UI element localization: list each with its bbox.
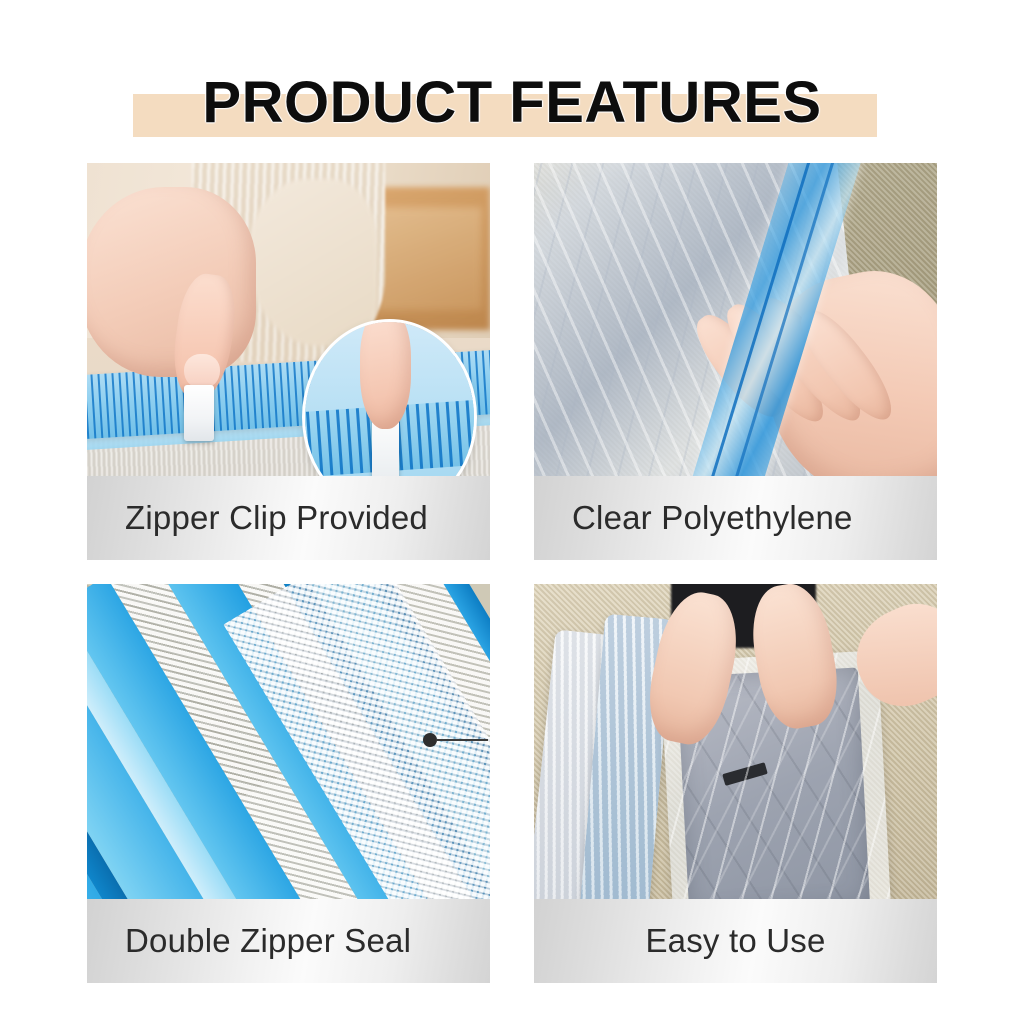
feature-caption-text: Double Zipper Seal bbox=[125, 922, 411, 960]
feature-caption-bar: Double Zipper Seal bbox=[87, 899, 490, 983]
feature-card-double-zipper-seal[interactable]: Double Zipper Seal bbox=[87, 584, 490, 983]
header: PRODUCT FEATURES bbox=[0, 60, 1024, 150]
feature-caption-text: Zipper Clip Provided bbox=[125, 499, 428, 537]
feature-caption-text: Clear Polyethylene bbox=[572, 499, 853, 537]
feature-card-clear-polyethylene[interactable]: Clear Polyethylene bbox=[534, 163, 937, 560]
feature-caption-bar: Clear Polyethylene bbox=[534, 476, 937, 560]
feature-caption-bar: Easy to Use bbox=[534, 899, 937, 983]
feature-caption-text: Easy to Use bbox=[645, 922, 825, 960]
feature-card-easy-to-use[interactable]: Easy to Use bbox=[534, 584, 937, 983]
feature-caption-bar: Zipper Clip Provided bbox=[87, 476, 490, 560]
page-title: PRODUCT FEATURES bbox=[0, 72, 1024, 134]
product-features-infographic: PRODUCT FEATURES bbox=[0, 0, 1024, 1024]
feature-card-zipper-clip-provided[interactable]: Zipper Clip Provided bbox=[87, 163, 490, 560]
feature-grid: Zipper Clip Provided Clear Polyethylene bbox=[87, 163, 937, 983]
